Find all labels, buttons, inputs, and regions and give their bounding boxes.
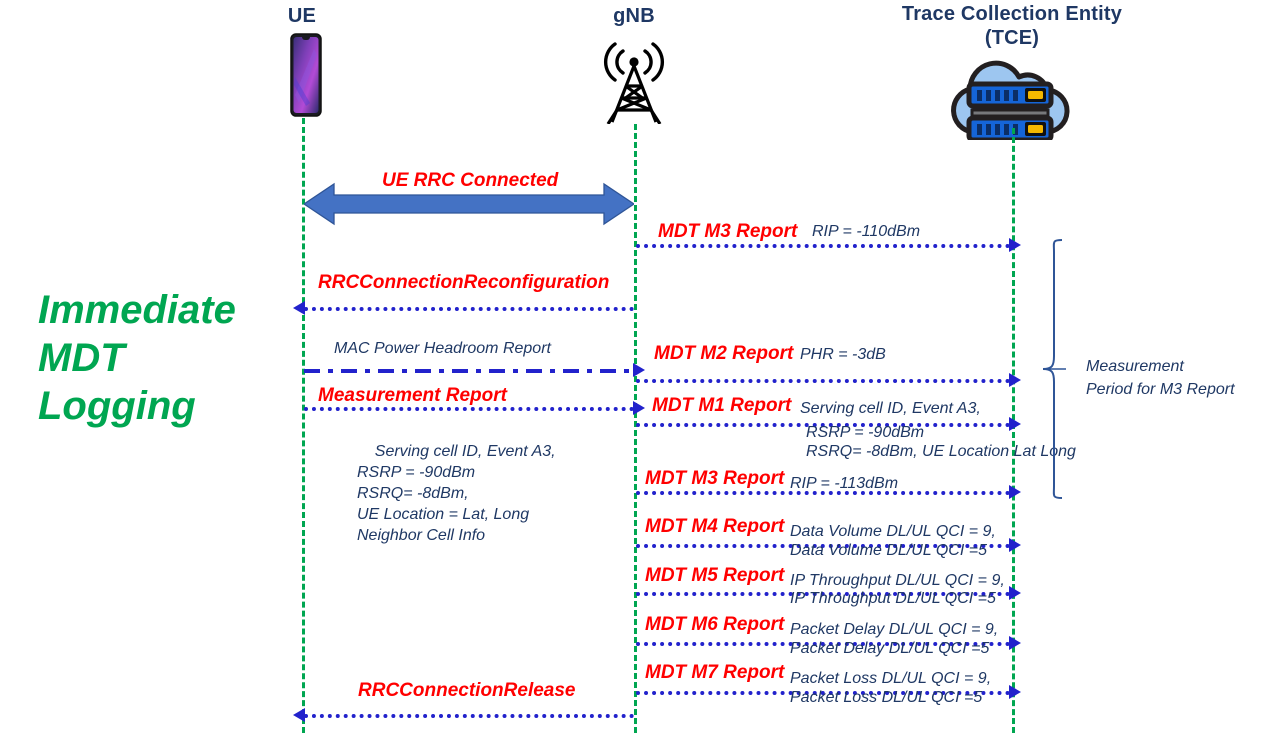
message-label-mdt-m5-report-text: MDT M5 Report — [645, 565, 784, 586]
message-label-rrc-connection-release: RRCConnectionRelease — [358, 680, 576, 702]
cloud-server-icon — [932, 52, 1092, 140]
message-arrow-rrc-connection-reconfiguration — [304, 306, 634, 310]
message-label-mdt-m3-report-1-text: MDT M3 Report — [658, 221, 797, 242]
payload-measurement-report: Serving cell ID, Event A3, RSRP = -90dBm… — [357, 420, 556, 567]
payload-mdt-m4-report-line2-text: Data Volume DL/UL QCI =5 — [790, 542, 987, 559]
message-label-mdt-m2-report: MDT M2 Report — [654, 343, 793, 365]
measurement-period-label-line2: Period for M3 Report — [1086, 381, 1235, 399]
payload-mdt-m4-report-line1: Data Volume DL/UL QCI = 9, — [790, 523, 996, 541]
payload-mdt-m7-report-line1: Packet Loss DL/UL QCI = 9, — [790, 670, 991, 688]
payload-mdt-m2-report: PHR = -3dB — [800, 346, 886, 364]
message-label-mdt-m6-report: MDT M6 Report — [645, 614, 784, 636]
actor-label-tce: Trace Collection Entity (TCE) — [872, 2, 1152, 50]
message-label-mdt-m1-report-text: MDT M1 Report — [652, 395, 791, 416]
message-label-mdt-m1-report: MDT M1 Report — [652, 395, 791, 417]
message-label-measurement-report-text: Measurement Report — [318, 385, 507, 406]
message-arrow-mdt-m3-report-1 — [636, 243, 1010, 247]
actor-label-gnb-text: gNB — [613, 5, 655, 27]
payload-mdt-m1-report-line2: RSRP = -90dBm — [806, 424, 924, 442]
payload-mdt-m7-report-line1-text: Packet Loss DL/UL QCI = 9, — [790, 670, 991, 687]
payload-mdt-m1-report-line3-text: RSRQ= -8dBm, UE Location Lat Long — [806, 443, 1076, 460]
payload-measurement-report-text: Serving cell ID, Event A3, RSRP = -90dBm… — [357, 443, 556, 544]
payload-mdt-m6-report-line2-text: Packet Delay DL/UL QCI =5 — [790, 640, 989, 657]
payload-mdt-m3-report-1-text: RIP = -110dBm — [812, 223, 920, 240]
message-label-mdt-m5-report: MDT M5 Report — [645, 565, 784, 587]
message-label-mdt-m2-report-text: MDT M2 Report — [654, 343, 793, 364]
cell-tower-icon — [592, 38, 676, 124]
message-label-mdt-m7-report: MDT M7 Report — [645, 662, 784, 684]
actor-label-gnb: gNB — [584, 4, 684, 28]
message-arrow-mdt-m2-report — [636, 378, 1010, 382]
message-label-rrc-connection-reconfiguration-text: RRCConnectionReconfiguration — [318, 272, 609, 293]
payload-mdt-m6-report-line1: Packet Delay DL/UL QCI = 9, — [790, 621, 998, 639]
message-label-mdt-m6-report-text: MDT M6 Report — [645, 614, 784, 635]
payload-mdt-m1-report-line3: RSRQ= -8dBm, UE Location Lat Long — [806, 443, 1076, 461]
message-label-mdt-m4-report-text: MDT M4 Report — [645, 516, 784, 537]
payload-mdt-m2-report-text: PHR = -3dB — [800, 346, 886, 363]
message-label-rrc-connection-reconfiguration: RRCConnectionReconfiguration — [318, 272, 609, 294]
payload-mdt-m6-report-line2: Packet Delay DL/UL QCI =5 — [790, 640, 989, 658]
sequence-diagram-canvas: UE gNB — [0, 0, 1276, 733]
payload-mdt-m1-report-line1: Serving cell ID, Event A3, — [800, 400, 981, 418]
payload-mdt-m1-report-line1-text: Serving cell ID, Event A3, — [800, 400, 981, 417]
smartphone-icon — [290, 33, 322, 117]
payload-mdt-m5-report-line1-text: IP Throughput DL/UL QCI = 9, — [790, 572, 1005, 589]
message-label-mdt-m3-report-1: MDT M3 Report — [658, 221, 797, 243]
payload-mdt-m4-report-line1-text: Data Volume DL/UL QCI = 9, — [790, 523, 996, 540]
message-arrow-mac-power-headroom-report — [304, 368, 634, 372]
actor-label-tce-line2: (TCE) — [985, 27, 1039, 49]
message-arrow-mdt-m3-report-2 — [636, 490, 1010, 494]
payload-mdt-m1-report-line2-text: RSRP = -90dBm — [806, 424, 924, 441]
message-arrow-ue-rrc-connected — [304, 182, 634, 226]
message-arrow-measurement-report — [304, 406, 634, 410]
payload-mdt-m5-report-line1: IP Throughput DL/UL QCI = 9, — [790, 572, 1005, 590]
actor-label-ue: UE — [252, 4, 352, 28]
measurement-period-label-line1-text: Measurement — [1086, 358, 1184, 375]
overlay-title-line2: MDT Logging — [38, 336, 196, 428]
message-label-measurement-report: Measurement Report — [318, 385, 507, 407]
payload-mdt-m4-report-line2: Data Volume DL/UL QCI =5 — [790, 542, 987, 560]
payload-mdt-m5-report-line2-text: IP Throughput DL/UL QCI =5 — [790, 590, 996, 607]
message-label-rrc-connection-release-text: RRCConnectionRelease — [358, 680, 576, 701]
measurement-period-label-line2-text: Period for M3 Report — [1086, 381, 1235, 398]
message-label-mdt-m3-report-2: MDT M3 Report — [645, 468, 784, 490]
message-arrow-rrc-connection-release — [304, 713, 634, 717]
payload-mdt-m7-report-line2: Packet Loss DL/UL QCI =5 — [790, 689, 982, 707]
message-label-mac-power-headroom-report-text: MAC Power Headroom Report — [334, 340, 551, 357]
message-label-mac-power-headroom-report: MAC Power Headroom Report — [334, 340, 551, 358]
actor-label-ue-text: UE — [288, 5, 316, 27]
message-label-mdt-m3-report-2-text: MDT M3 Report — [645, 468, 784, 489]
overlay-title-line1: Immediate — [38, 288, 236, 332]
message-label-mdt-m4-report: MDT M4 Report — [645, 516, 784, 538]
payload-mdt-m7-report-line2-text: Packet Loss DL/UL QCI =5 — [790, 689, 982, 706]
payload-mdt-m6-report-line1-text: Packet Delay DL/UL QCI = 9, — [790, 621, 998, 638]
measurement-period-brace — [1040, 238, 1066, 500]
measurement-period-label-line1: Measurement — [1086, 358, 1184, 376]
overlay-title: Immediate MDT Logging — [38, 286, 293, 430]
actor-label-tce-line1: Trace Collection Entity — [902, 3, 1122, 25]
payload-mdt-m3-report-1: RIP = -110dBm — [812, 223, 920, 241]
payload-mdt-m5-report-line2: IP Throughput DL/UL QCI =5 — [790, 590, 996, 608]
message-label-mdt-m7-report-text: MDT M7 Report — [645, 662, 784, 683]
